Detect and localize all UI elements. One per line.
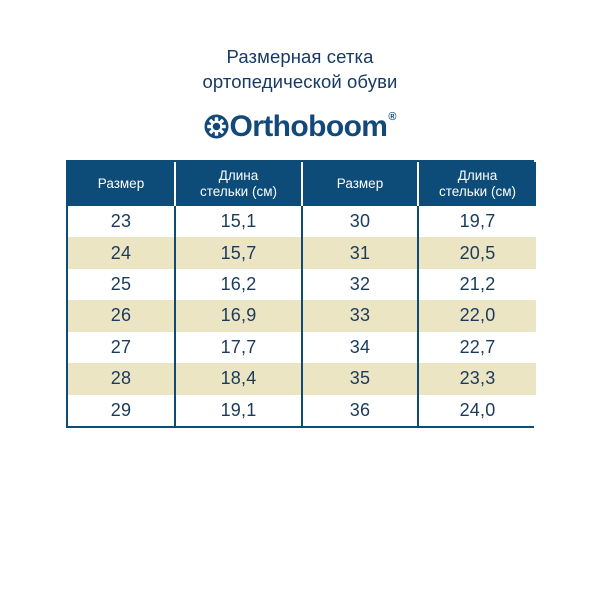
cell-size-right: 33 <box>302 300 418 331</box>
cell-size-left: 23 <box>68 206 175 237</box>
cell-size-right: 31 <box>302 237 418 268</box>
cell-length-left: 15,1 <box>175 206 302 237</box>
cell-length-left: 16,9 <box>175 300 302 331</box>
column-header-text-line-1: Длина <box>219 168 259 183</box>
cell-size-left: 26 <box>68 300 175 331</box>
cell-length-left: 17,7 <box>175 332 302 363</box>
cell-size-left: 25 <box>68 269 175 300</box>
column-header-text: Размер <box>337 176 383 191</box>
size-table-container: Размер Длина стельки (см) Размер Длина с… <box>66 160 534 428</box>
cell-length-right: 22,0 <box>418 300 536 331</box>
page-title-line-2: ортопедической обуви <box>0 69 600 94</box>
table-row: 26 16,9 33 22,0 <box>68 300 536 331</box>
size-table-body: 23 15,1 30 19,7 24 15,7 31 20,5 25 16,2 … <box>68 206 536 426</box>
column-header-text: Размер <box>98 176 144 191</box>
cell-size-right: 34 <box>302 332 418 363</box>
size-table-header: Размер Длина стельки (см) Размер Длина с… <box>68 162 536 206</box>
cell-length-left: 19,1 <box>175 395 302 426</box>
cell-length-right: 24,0 <box>418 395 536 426</box>
table-row: 28 18,4 35 23,3 <box>68 363 536 394</box>
column-header-text-line-2: стельки (см) <box>439 184 516 199</box>
cell-length-left: 16,2 <box>175 269 302 300</box>
cell-size-right: 32 <box>302 269 418 300</box>
size-table: Размер Длина стельки (см) Размер Длина с… <box>68 162 536 426</box>
column-header-size-2: Размер <box>302 162 418 206</box>
cell-length-right: 19,7 <box>418 206 536 237</box>
cell-length-left: 15,7 <box>175 237 302 268</box>
registered-trademark-icon: ® <box>388 111 396 123</box>
cell-size-right: 36 <box>302 395 418 426</box>
page-title: Размерная сетка ортопедической обуви <box>0 44 600 94</box>
cell-length-right: 20,5 <box>418 237 536 268</box>
table-row: 24 15,7 31 20,5 <box>68 237 536 268</box>
cell-size-left: 29 <box>68 395 175 426</box>
cell-length-right: 23,3 <box>418 363 536 394</box>
cell-size-left: 28 <box>68 363 175 394</box>
column-header-insole-length-1: Длина стельки (см) <box>175 162 302 206</box>
table-row: 25 16,2 32 21,2 <box>68 269 536 300</box>
page-title-line-1: Размерная сетка <box>0 44 600 69</box>
size-chart-page: Размерная сетка ортопедической обуви <box>0 0 600 600</box>
brand-name: Orthoboom <box>229 112 387 142</box>
cell-size-right: 30 <box>302 206 418 237</box>
cell-length-right: 22,7 <box>418 332 536 363</box>
cell-size-right: 35 <box>302 363 418 394</box>
column-header-text-line-2: стельки (см) <box>200 184 277 199</box>
column-header-insole-length-2: Длина стельки (см) <box>418 162 536 206</box>
cell-length-left: 18,4 <box>175 363 302 394</box>
column-header-text-line-1: Длина <box>458 168 498 183</box>
cell-length-right: 21,2 <box>418 269 536 300</box>
table-row: 23 15,1 30 19,7 <box>68 206 536 237</box>
cell-size-left: 27 <box>68 332 175 363</box>
table-header-row: Размер Длина стельки (см) Размер Длина с… <box>68 162 536 206</box>
column-header-size-1: Размер <box>68 162 175 206</box>
gear-star-icon <box>204 114 229 139</box>
brand-logo: Orthoboom ® <box>0 109 600 143</box>
table-row: 29 19,1 36 24,0 <box>68 395 536 426</box>
cell-size-left: 24 <box>68 237 175 268</box>
table-row: 27 17,7 34 22,7 <box>68 332 536 363</box>
